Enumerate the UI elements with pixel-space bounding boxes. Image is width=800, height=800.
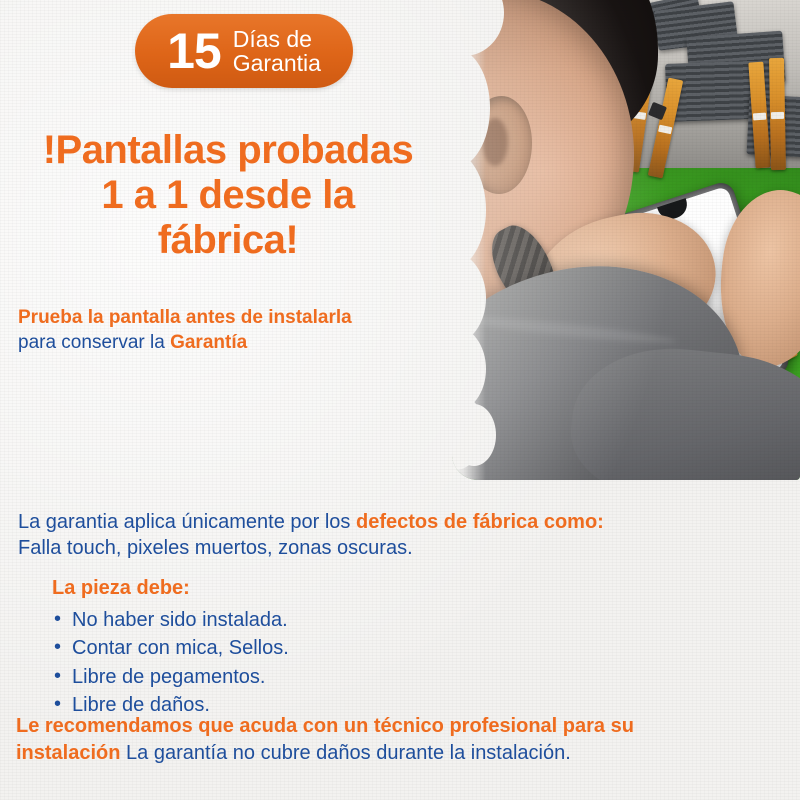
warranty-line2: Falla touch, pixeles muertos, zonas oscu… xyxy=(18,537,413,559)
closing-strong-line1: Le recomendamos que acuda con un técnico… xyxy=(16,715,634,737)
flex-cable xyxy=(769,58,786,170)
headline-line3: fábrica! xyxy=(158,218,299,262)
technician-photo xyxy=(452,0,800,480)
conditions-title: La pieza debe: xyxy=(52,577,190,600)
subheadline-line1: Prueba la pantalla antes de instalarla xyxy=(18,306,458,331)
warranty-line1-strong: defectos de fábrica como: xyxy=(356,511,604,533)
closing-strong-line2: instalación xyxy=(16,742,120,764)
main-headline: !Pantallas probadas 1 a 1 desde la fábri… xyxy=(8,128,448,262)
warranty-line1-prefix: La garantia aplica únicamente por los xyxy=(18,511,350,533)
badge-label-line1: Días de xyxy=(233,26,312,52)
closing-recommendation: Le recomendamos que acuda con un técnico… xyxy=(16,713,788,767)
warranty-days-badge: 15 Días de Garantia xyxy=(135,14,353,88)
badge-label-line2: Garantia xyxy=(233,50,321,76)
headline-line2: 1 a 1 desde la xyxy=(101,173,354,217)
subheadline-line2: para conservar la Garantía xyxy=(18,331,458,356)
badge-label: Días de Garantia xyxy=(233,27,321,76)
photo-content xyxy=(452,0,800,480)
list-item: No haber sido instalada. xyxy=(52,606,289,634)
subheadline: Prueba la pantalla antes de instalarla p… xyxy=(18,306,458,355)
list-item: Libre de pegamentos. xyxy=(52,663,289,691)
promo-poster: 15 Días de Garantia !Pantallas probadas … xyxy=(0,0,800,800)
headline-line1: !Pantallas probadas xyxy=(43,128,414,172)
badge-number: 15 xyxy=(167,26,221,76)
photo-left-fade xyxy=(452,0,486,480)
subheadline-line2-strong: Garantía xyxy=(170,332,247,353)
list-item: Contar con mica, Sellos. xyxy=(52,634,289,662)
warranty-coverage-text: La garantia aplica únicamente por los de… xyxy=(18,509,782,562)
closing-normal: La garantía no cubre daños durante la in… xyxy=(126,742,571,764)
conditions-list: No haber sido instalada. Contar con mica… xyxy=(52,606,289,720)
subheadline-line2-prefix: para conservar la xyxy=(18,332,165,353)
